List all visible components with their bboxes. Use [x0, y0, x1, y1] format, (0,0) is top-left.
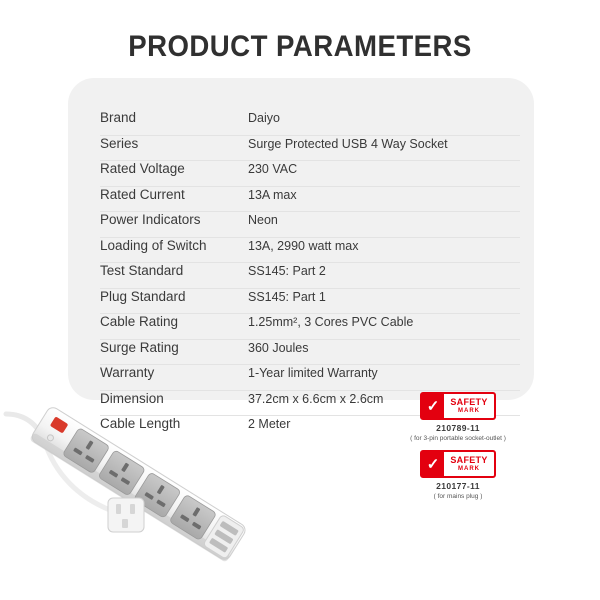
spec-value: 230 VAC — [248, 162, 297, 176]
spec-label: Rated Voltage — [100, 161, 248, 176]
safety-mark-number: 210789-11 — [398, 423, 518, 433]
check-icon: ✓ — [422, 452, 444, 476]
safety-mark-caption: ( for mains plug ) — [398, 493, 518, 500]
table-row: Rated Current 13A max — [100, 187, 520, 213]
spec-label: Warranty — [100, 365, 248, 380]
safety-mark-badge: ✓ SAFETY MARK — [420, 392, 496, 420]
table-row: Test Standard SS145: Part 2 — [100, 263, 520, 289]
spec-value: 13A, 2990 watt max — [248, 239, 358, 253]
page-title: PRODUCT PARAMETERS — [24, 30, 576, 64]
spec-label: Cable Rating — [100, 314, 248, 329]
table-row: Brand Daiyo — [100, 110, 520, 136]
table-row: Plug Standard SS145: Part 1 — [100, 289, 520, 315]
spec-value: 1-Year limited Warranty — [248, 366, 378, 380]
spec-label: Loading of Switch — [100, 238, 248, 253]
spec-label: Surge Rating — [100, 340, 248, 355]
spec-value: Neon — [248, 213, 278, 227]
safety-badge-line1: SAFETY — [444, 398, 494, 407]
safety-mark-plug: ✓ SAFETY MARK 210177-11 ( for mains plug… — [398, 450, 518, 500]
table-row: Rated Voltage 230 VAC — [100, 161, 520, 187]
spec-label: Power Indicators — [100, 212, 248, 227]
three-pin-plug — [108, 498, 144, 532]
table-row: Power Indicators Neon — [100, 212, 520, 238]
safety-mark-number: 210177-11 — [398, 481, 518, 491]
spec-value: 360 Joules — [248, 341, 308, 355]
spec-value: SS145: Part 1 — [248, 290, 326, 304]
spec-label: Brand — [100, 110, 248, 125]
safety-badge-line1: SAFETY — [444, 456, 494, 465]
table-row: Surge Rating 360 Joules — [100, 340, 520, 366]
spec-label: Plug Standard — [100, 289, 248, 304]
safety-mark-socket: ✓ SAFETY MARK 210789-11 ( for 3-pin port… — [398, 392, 518, 442]
safety-badge-line2: MARK — [444, 466, 494, 472]
table-row: Series Surge Protected USB 4 Way Socket — [100, 136, 520, 162]
safety-mark-caption: ( for 3-pin portable socket-outlet ) — [398, 435, 518, 442]
safety-mark-badge: ✓ SAFETY MARK — [420, 450, 496, 478]
spec-value: 1.25mm², 3 Cores PVC Cable — [248, 315, 413, 329]
spec-label: Series — [100, 136, 248, 151]
spec-value: Daiyo — [248, 111, 280, 125]
spec-value: 13A max — [248, 188, 297, 202]
table-row: Loading of Switch 13A, 2990 watt max — [100, 238, 520, 264]
table-row: Cable Rating 1.25mm², 3 Cores PVC Cable — [100, 314, 520, 340]
check-icon: ✓ — [422, 394, 444, 418]
product-image — [0, 380, 320, 570]
spec-label: Rated Current — [100, 187, 248, 202]
spec-value: SS145: Part 2 — [248, 264, 326, 278]
spec-value: Surge Protected USB 4 Way Socket — [248, 137, 448, 151]
safety-badge-line2: MARK — [444, 408, 494, 414]
spec-label: Test Standard — [100, 263, 248, 278]
